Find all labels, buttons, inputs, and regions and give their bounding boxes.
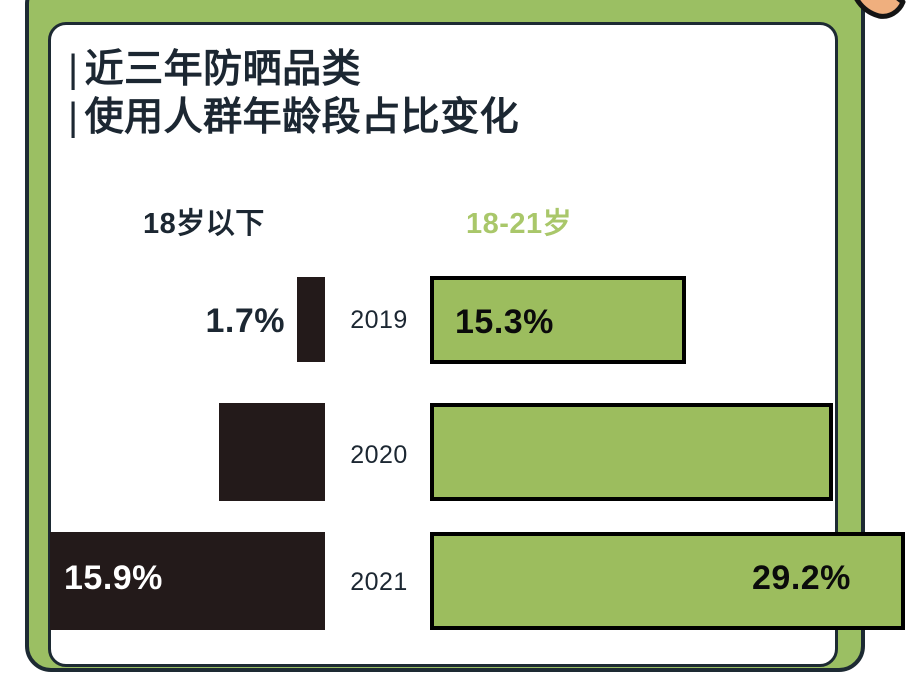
bar-left-value-2021: 15.9% <box>64 559 163 598</box>
year-label-2020: 2020 <box>335 441 423 470</box>
year-label-2019: 2019 <box>335 306 423 335</box>
title-marker-1: | <box>68 46 79 94</box>
bar-left-value-2019: 1.7% <box>137 302 285 341</box>
title-line-2: |使用人群年龄段占比变化 <box>68 94 519 142</box>
bar-left-2020 <box>219 403 325 501</box>
bar-right-2020 <box>430 403 833 501</box>
year-label-2021: 2021 <box>335 568 423 597</box>
title-line-1: |近三年防晒品类 <box>68 46 519 94</box>
title-marker-2: | <box>68 94 79 142</box>
title-text-2: 使用人群年龄段占比变化 <box>85 96 520 139</box>
legend-label-18-21: 18-21岁 <box>466 200 572 242</box>
infographic-stage: |近三年防晒品类 |使用人群年龄段占比变化 18岁以下 18-21岁 1.7% … <box>0 0 919 680</box>
bar-right-value-2021: 29.2% <box>752 559 851 598</box>
bar-left-2019 <box>297 277 325 362</box>
title-text-1: 近三年防晒品类 <box>85 48 362 91</box>
legend-label-under-18: 18岁以下 <box>143 200 265 242</box>
bar-right-value-2019: 15.3% <box>455 303 554 342</box>
page-title: |近三年防晒品类 |使用人群年龄段占比变化 <box>68 46 519 141</box>
